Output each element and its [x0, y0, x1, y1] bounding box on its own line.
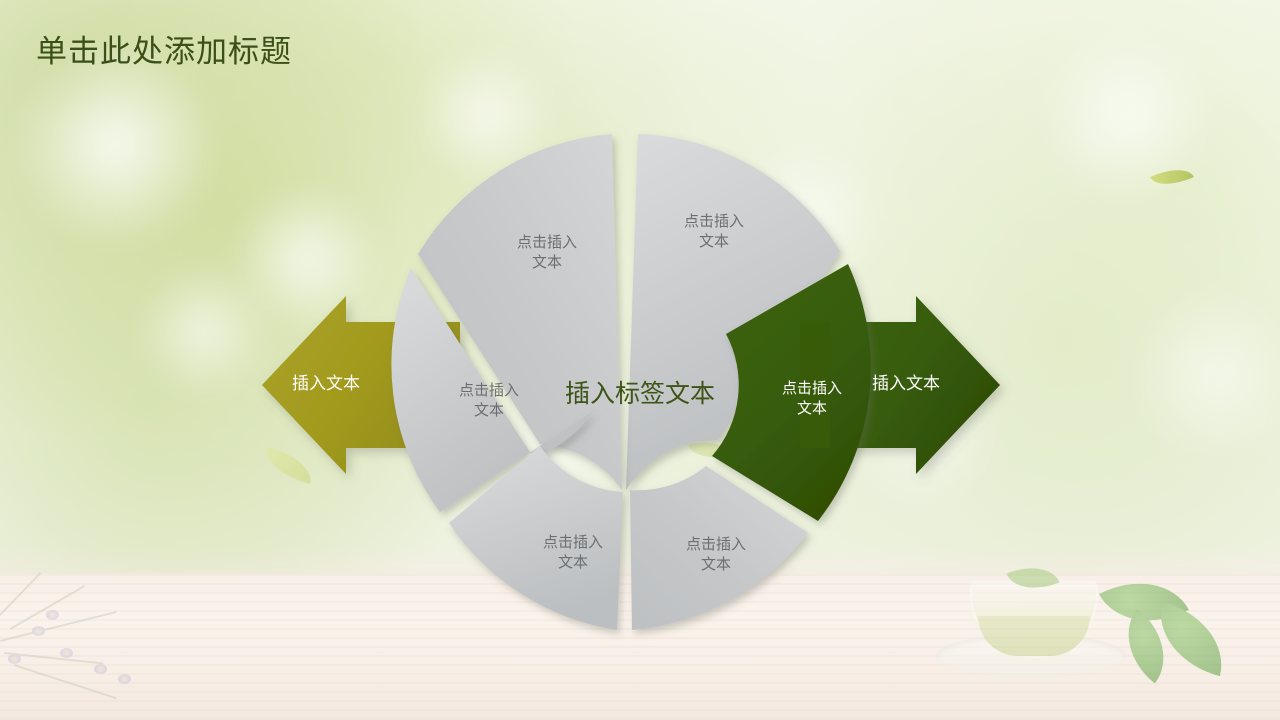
- arrow-right-label[interactable]: 插入文本: [872, 373, 940, 395]
- cycle-diagram: 点击插入 文本 点击插入 文本 点击插入 文本 点击插入 文本 点击插入 文本 …: [0, 0, 1280, 720]
- arrow-left-label[interactable]: 插入文本: [292, 373, 360, 395]
- center-label[interactable]: 插入标签文本: [565, 378, 715, 410]
- slide-canvas: 单击此处添加标题: [0, 0, 1280, 720]
